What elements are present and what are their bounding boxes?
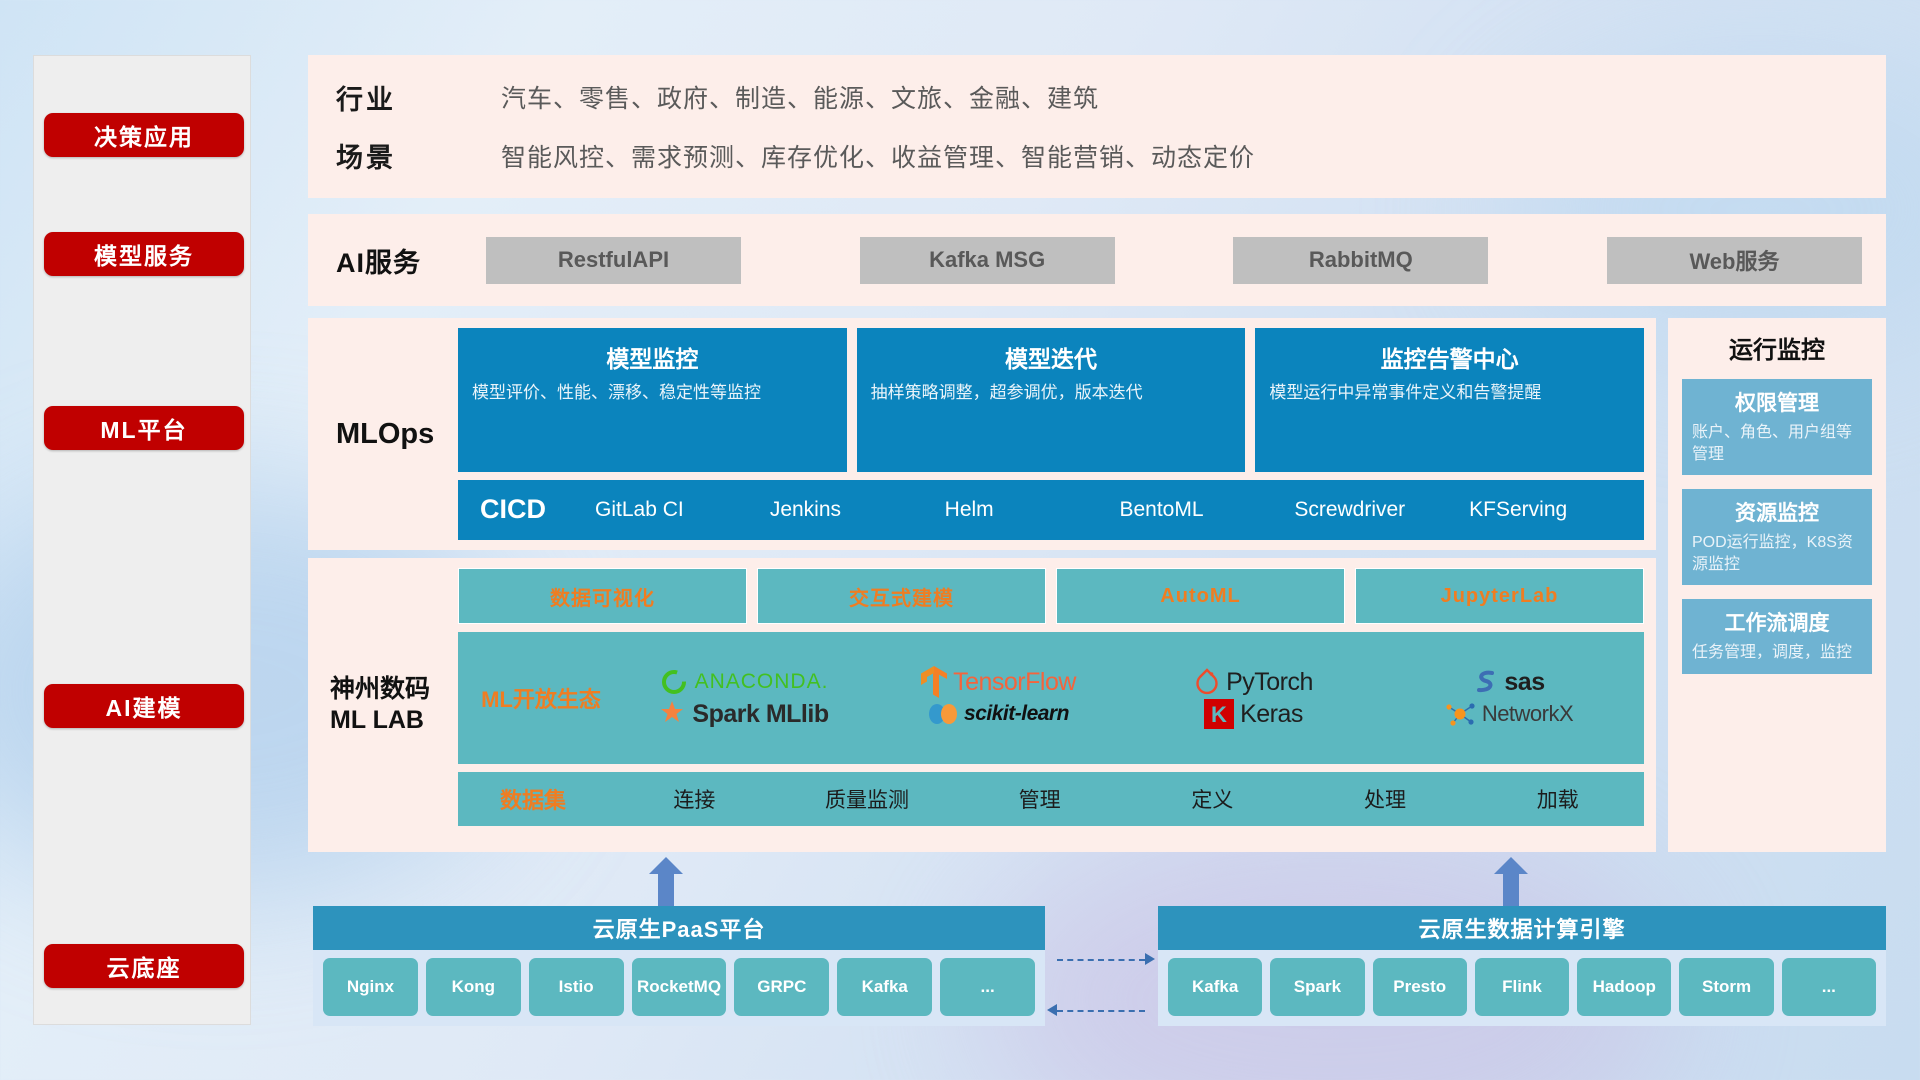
data-chip-hadoop[interactable]: Hadoop <box>1577 958 1671 1016</box>
mlops-label: MLOps <box>308 328 458 540</box>
eco-label: ML开放生态 <box>466 682 616 714</box>
industry-label: 行业 <box>336 78 501 117</box>
cicd-item-jenkins[interactable]: Jenkins <box>770 499 945 520</box>
logo-label: Keras <box>1240 700 1303 729</box>
data-chip-kafka[interactable]: Kafka <box>1168 958 1262 1016</box>
card-desc: 模型评价、性能、漂移、稳定性等监控 <box>472 382 833 405</box>
stage-badge-cloud-base[interactable]: 云底座 <box>44 944 244 988</box>
networkx-logo: NetworkX <box>1444 700 1573 728</box>
monitor-card-permission[interactable]: 权限管理 账户、角色、用户组等管理 <box>1682 379 1872 475</box>
cicd-item-screwdriver[interactable]: Screwdriver <box>1294 499 1469 520</box>
stage-badge-ml-platform[interactable]: ML平台 <box>44 406 244 450</box>
scenario-label: 场景 <box>336 136 501 175</box>
card-title: 工作流调度 <box>1692 607 1862 637</box>
ai-service-panel: AI服务 RestfulAPI Kafka MSG RabbitMQ Web服务 <box>308 214 1886 306</box>
logo-label: TensorFlow <box>953 668 1076 697</box>
ai-service-label: AI服务 <box>336 241 486 280</box>
mlops-card-model-iteration[interactable]: 模型迭代 抽样策略调整，超参调优，版本迭代 <box>857 328 1246 472</box>
stage-label: 云底座 <box>107 949 182 983</box>
card-desc: POD运行监控，K8S资源监控 <box>1692 532 1862 575</box>
cicd-title: CICD <box>480 494 595 525</box>
cloud-chip-istio[interactable]: Istio <box>529 958 624 1016</box>
data-chip-more[interactable]: ... <box>1782 958 1876 1016</box>
cloud-chip-rocketmq[interactable]: RocketMQ <box>632 958 727 1016</box>
stage-label: ML平台 <box>100 411 187 445</box>
cloud-chip-kong[interactable]: Kong <box>426 958 521 1016</box>
monitor-card-resource[interactable]: 资源监控 POD运行监控，K8S资源监控 <box>1682 489 1872 585</box>
chip-label: Kafka MSG <box>929 247 1045 273</box>
logo-label: Spark MLlib <box>692 700 828 729</box>
keras-icon: K <box>1204 699 1234 729</box>
mlops-card-alert-center[interactable]: 监控告警中心 模型运行中异常事件定义和告警提醒 <box>1255 328 1644 472</box>
ml-lab-label: 神州数码 ML LAB <box>308 568 458 842</box>
card-title: 权限管理 <box>1692 387 1862 417</box>
ai-service-chip-restfulapi[interactable]: RestfulAPI <box>486 237 741 284</box>
chip-label: JupyterLab <box>1441 585 1559 608</box>
stage-badge-model-service[interactable]: 模型服务 <box>44 232 244 276</box>
stage-badge-ai-modeling[interactable]: AI建模 <box>44 684 244 728</box>
logo-label: NetworkX <box>1482 701 1573 727</box>
architecture-diagram: 决策应用 模型服务 ML平台 AI建模 云底座 行业 汽车、零售、政府、制造、能… <box>0 0 1920 1080</box>
stage-label: 决策应用 <box>94 118 194 152</box>
data-chip-storm[interactable]: Storm <box>1679 958 1773 1016</box>
cloud-paas-title: 云原生PaaS平台 <box>313 906 1045 950</box>
stage-rail <box>33 55 251 1025</box>
connector-paas-to-data <box>1057 959 1145 961</box>
applications-panel: 行业 汽车、零售、政府、制造、能源、文旅、金融、建筑 场景 智能风控、需求预测、… <box>308 55 1886 198</box>
ml-lab-line1: 神州数码 <box>330 674 458 705</box>
tool-chip-automl[interactable]: AutoML <box>1056 568 1345 624</box>
connector-arrowhead-right-icon <box>1145 953 1155 965</box>
logo-label: ANACONDA. <box>695 670 829 694</box>
card-title: 资源监控 <box>1692 497 1862 527</box>
pytorch-icon <box>1194 667 1220 697</box>
cloud-chip-nginx[interactable]: Nginx <box>323 958 418 1016</box>
ai-service-chip-rabbitmq[interactable]: RabbitMQ <box>1233 237 1488 284</box>
connector-arrowhead-left-icon <box>1047 1004 1057 1016</box>
card-desc: 模型运行中异常事件定义和告警提醒 <box>1269 382 1630 405</box>
tool-chip-jupyterlab[interactable]: JupyterLab <box>1355 568 1644 624</box>
card-desc: 抽样策略调整，超参调优，版本迭代 <box>871 382 1232 405</box>
modeling-panel: 神州数码 ML LAB 数据可视化 交互式建模 AutoML JupyterLa… <box>308 558 1656 852</box>
dataset-item-quality[interactable]: 质量监测 <box>781 784 954 814</box>
logo-label: sas <box>1504 668 1544 697</box>
spark-mllib-logo: Spark MLlib <box>658 700 828 729</box>
ml-lab-line2: ML LAB <box>330 705 458 736</box>
card-desc: 账户、角色、用户组等管理 <box>1692 422 1862 465</box>
tool-chip-interactive-modeling[interactable]: 交互式建模 <box>757 568 1046 624</box>
monitor-title: 运行监控 <box>1682 330 1872 365</box>
cicd-item-helm[interactable]: Helm <box>945 499 1120 520</box>
ai-service-chip-web-service[interactable]: Web服务 <box>1607 237 1862 284</box>
stage-label: AI建模 <box>106 689 183 723</box>
logo-label: PyTorch <box>1226 668 1313 697</box>
card-title: 监控告警中心 <box>1269 340 1630 374</box>
cloud-chip-kafka[interactable]: Kafka <box>837 958 932 1016</box>
card-title: 模型监控 <box>472 340 833 374</box>
sas-icon <box>1472 668 1498 696</box>
scenario-value: 智能风控、需求预测、库存优化、收益管理、智能营销、动态定价 <box>501 138 1886 174</box>
svg-text:K: K <box>1211 702 1227 727</box>
up-arrow-paas-icon <box>649 857 683 909</box>
cicd-bar: CICD GitLab CI Jenkins Helm BentoML Scre… <box>458 480 1644 540</box>
chip-label: 数据可视化 <box>550 582 655 611</box>
ai-service-chip-kafka-msg[interactable]: Kafka MSG <box>860 237 1115 284</box>
dataset-bar: 数据集 连接 质量监测 管理 定义 处理 加载 <box>458 772 1644 826</box>
anaconda-icon <box>659 667 689 697</box>
cloud-chip-grpc[interactable]: GRPC <box>734 958 829 1016</box>
data-chip-presto[interactable]: Presto <box>1373 958 1467 1016</box>
chip-label: Web服务 <box>1689 244 1779 276</box>
industry-value: 汽车、零售、政府、制造、能源、文旅、金融、建筑 <box>501 79 1886 115</box>
data-chip-flink[interactable]: Flink <box>1475 958 1569 1016</box>
anaconda-logo: ANACONDA. <box>659 667 829 697</box>
dataset-title: 数据集 <box>458 783 608 815</box>
cloud-data-engine-block: 云原生数据计算引擎 Kafka Spark Presto Flink Hadoo… <box>1158 906 1886 1026</box>
scikit-learn-logo: scikit-learn <box>928 700 1069 728</box>
cloud-data-engine-title: 云原生数据计算引擎 <box>1158 906 1886 950</box>
cicd-item-kfserving[interactable]: KFServing <box>1469 499 1644 520</box>
mlops-card-model-monitoring[interactable]: 模型监控 模型评价、性能、漂移、稳定性等监控 <box>458 328 847 472</box>
tensorflow-icon <box>921 666 947 698</box>
chip-label: RestfulAPI <box>558 247 669 273</box>
connector-data-to-paas <box>1057 1010 1145 1012</box>
pytorch-logo: PyTorch <box>1194 667 1313 697</box>
dataset-item-define[interactable]: 定义 <box>1126 784 1299 814</box>
dataset-item-manage[interactable]: 管理 <box>953 784 1126 814</box>
stage-label: 模型服务 <box>94 237 194 271</box>
cloud-paas-block: 云原生PaaS平台 Nginx Kong Istio RocketMQ GRPC… <box>313 906 1045 1026</box>
logo-label: scikit-learn <box>964 702 1069 726</box>
scikit-learn-icon <box>928 700 958 728</box>
spark-icon <box>658 700 686 728</box>
tensorflow-logo: TensorFlow <box>921 666 1076 698</box>
data-chip-spark[interactable]: Spark <box>1270 958 1364 1016</box>
chip-label: AutoML <box>1160 585 1240 608</box>
cloud-chip-more[interactable]: ... <box>940 958 1035 1016</box>
up-arrow-data-engine-icon <box>1494 857 1528 909</box>
sas-logo: sas <box>1472 668 1544 697</box>
runtime-monitoring-panel: 运行监控 权限管理 账户、角色、用户组等管理 资源监控 POD运行监控，K8S资… <box>1668 318 1886 852</box>
chip-label: 交互式建模 <box>849 582 954 611</box>
mlops-panel: MLOps 模型监控 模型评价、性能、漂移、稳定性等监控 模型迭代 抽样策略调整… <box>308 318 1656 550</box>
dataset-item-load[interactable]: 加载 <box>1471 784 1644 814</box>
cicd-item-bentoml[interactable]: BentoML <box>1119 499 1294 520</box>
card-desc: 任务管理，调度，监控 <box>1692 642 1862 664</box>
stage-badge-decision-apps[interactable]: 决策应用 <box>44 113 244 157</box>
cicd-item-gitlab-ci[interactable]: GitLab CI <box>595 499 770 520</box>
keras-logo: K Keras <box>1204 699 1303 729</box>
ml-open-ecosystem-band: ML开放生态 ANACONDA. <box>458 632 1644 764</box>
dataset-item-process[interactable]: 处理 <box>1299 784 1472 814</box>
networkx-icon <box>1444 700 1476 728</box>
card-title: 模型迭代 <box>871 340 1232 374</box>
tool-chip-data-visualization[interactable]: 数据可视化 <box>458 568 747 624</box>
monitor-card-workflow[interactable]: 工作流调度 任务管理，调度，监控 <box>1682 599 1872 674</box>
chip-label: RabbitMQ <box>1309 247 1413 273</box>
dataset-item-connect[interactable]: 连接 <box>608 784 781 814</box>
